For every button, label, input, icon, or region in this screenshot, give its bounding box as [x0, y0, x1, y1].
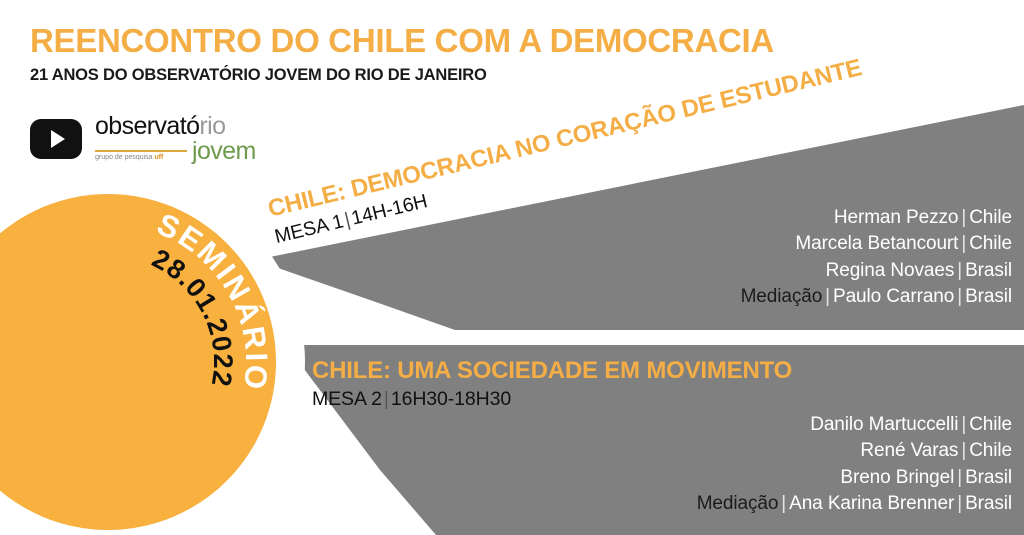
speaker-row: René Varas|Chile [697, 438, 1012, 464]
session-2-title: CHILE: UMA SOCIEDADE EM MOVIMENTO [312, 358, 792, 384]
logo-text-rio: rio [199, 112, 225, 140]
speaker-name: Paulo Carrano [833, 286, 954, 307]
poster-header: REENCONTRO DO CHILE COM A DEMOCRACIA 21 … [30, 24, 774, 85]
speaker-separator: | [958, 233, 969, 254]
speaker-name: Danilo Martuccelli [810, 414, 958, 435]
play-triangle-icon [51, 130, 65, 148]
speaker-country: Chile [969, 414, 1012, 435]
session-1-speaker-list: Herman Pezzo|ChileMarcela Betancourt|Chi… [741, 205, 1012, 311]
speaker-row: Marcela Betancourt|Chile [741, 231, 1012, 257]
logo-text-accent: ó [186, 112, 199, 140]
speaker-country: Chile [969, 207, 1012, 228]
speaker-row: Danilo Martuccelli|Chile [697, 412, 1012, 438]
speaker-separator: | [958, 414, 969, 435]
session-2-time: 16H30-18H30 [391, 388, 511, 410]
logo-text-jovem: jovem [192, 140, 256, 163]
logo-tagline-block: grupo de pesquisa uff [95, 150, 187, 160]
session-2-separator: | [382, 388, 391, 410]
logo-tagline-text: grupo de pesquisa [95, 152, 154, 161]
session-2-speaker-list: Danilo Martuccelli|ChileRené Varas|Chile… [697, 412, 1012, 518]
logo-tagline-uff: uff [154, 152, 163, 161]
speaker-country: Brasil [965, 286, 1012, 307]
session-2-mesa-label: MESA 2 [312, 388, 382, 410]
page-subtitle: 21 ANOS DO OBSERVATÓRIO JOVEM DO RIO DE … [30, 66, 774, 85]
youtube-play-icon[interactable] [30, 119, 82, 159]
logo-line-jovem: grupo de pesquisa uff jovem [95, 140, 256, 163]
speaker-name: Breno Bringel [840, 467, 954, 488]
speaker-separator: | [958, 207, 969, 228]
speaker-country: Brasil [965, 260, 1012, 281]
speaker-separator: | [822, 286, 833, 307]
speaker-name: René Varas [860, 440, 958, 461]
speaker-separator: | [954, 467, 965, 488]
logo-text-observat: observat [95, 112, 186, 140]
speaker-name: Herman Pezzo [834, 207, 958, 228]
speaker-separator: | [958, 440, 969, 461]
speaker-name: Marcela Betancourt [795, 233, 958, 254]
speaker-country: Brasil [965, 467, 1012, 488]
speaker-separator: | [954, 260, 965, 281]
poster-canvas: SEMINÁRIO 28.01.2022 REENCONTRO DO CHILE… [0, 0, 1024, 535]
session-2-heading: CHILE: UMA SOCIEDADE EM MOVIMENTO MESA 2… [312, 358, 792, 411]
speaker-row: Breno Bringel|Brasil [697, 465, 1012, 491]
logo-wordmark: observatório grupo de pesquisa uff jovem [95, 114, 256, 163]
speaker-country: Chile [969, 440, 1012, 461]
speaker-row: Mediação|Ana Karina Brenner|Brasil [697, 491, 1012, 517]
speaker-separator: | [954, 286, 965, 307]
speaker-name: Ana Karina Brenner [789, 493, 954, 514]
speaker-name: Regina Novaes [826, 260, 955, 281]
speaker-separator: | [778, 493, 789, 514]
speaker-row: Herman Pezzo|Chile [741, 205, 1012, 231]
speaker-row: Mediação|Paulo Carrano|Brasil [741, 284, 1012, 310]
speaker-role: Mediação [741, 286, 823, 307]
session-2-meta: MESA 2|16H30-18H30 [312, 388, 792, 411]
observatorio-jovem-logo[interactable]: observatório grupo de pesquisa uff jovem [30, 114, 256, 163]
logo-tagline: grupo de pesquisa uff [95, 153, 187, 160]
speaker-row: Regina Novaes|Brasil [741, 258, 1012, 284]
logo-line-observatorio: observatório [95, 114, 256, 139]
page-title: REENCONTRO DO CHILE COM A DEMOCRACIA [30, 24, 774, 57]
speaker-role: Mediação [697, 493, 779, 514]
speaker-separator: | [954, 493, 965, 514]
speaker-country: Brasil [965, 493, 1012, 514]
speaker-country: Chile [969, 233, 1012, 254]
